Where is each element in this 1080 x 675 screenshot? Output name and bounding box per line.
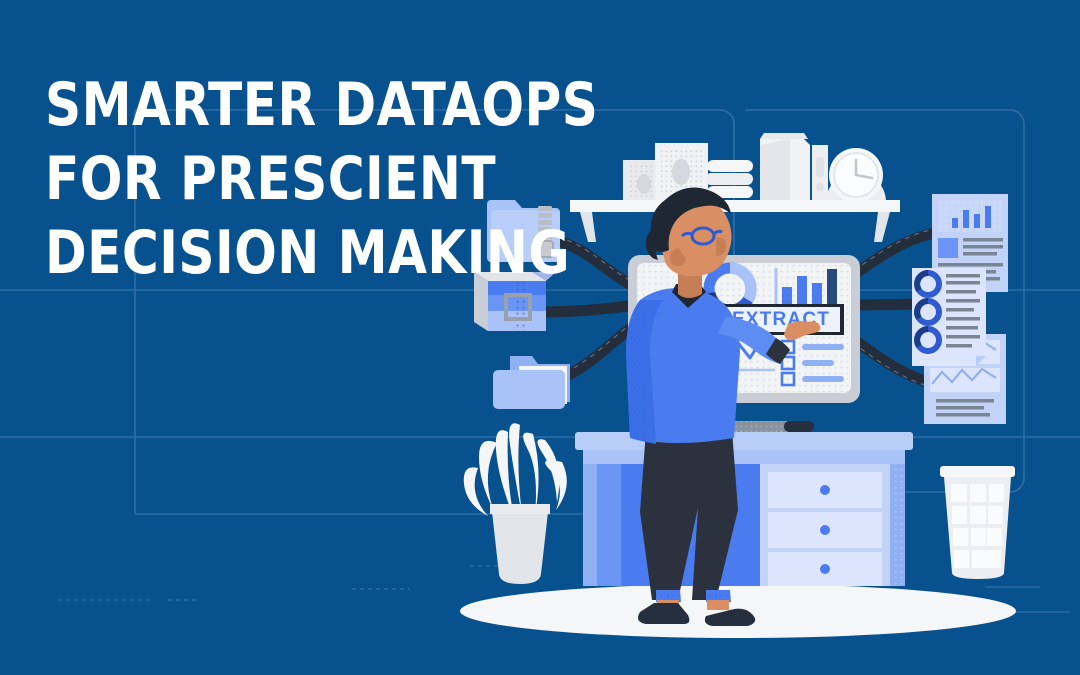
binder: [812, 145, 828, 202]
file-holder: [760, 133, 810, 202]
desk-drawers: [768, 472, 882, 586]
zipped-folder-icon: [487, 200, 560, 262]
report-donut-list-doc: [912, 268, 986, 366]
desk: [575, 432, 913, 586]
mesh-wastebasket: [940, 466, 1015, 579]
keyboard: [722, 421, 814, 432]
zipper-teeth: [538, 206, 552, 239]
archive-box-icon: [474, 272, 556, 331]
illustration-canvas: EXTRACT: [0, 0, 1080, 675]
